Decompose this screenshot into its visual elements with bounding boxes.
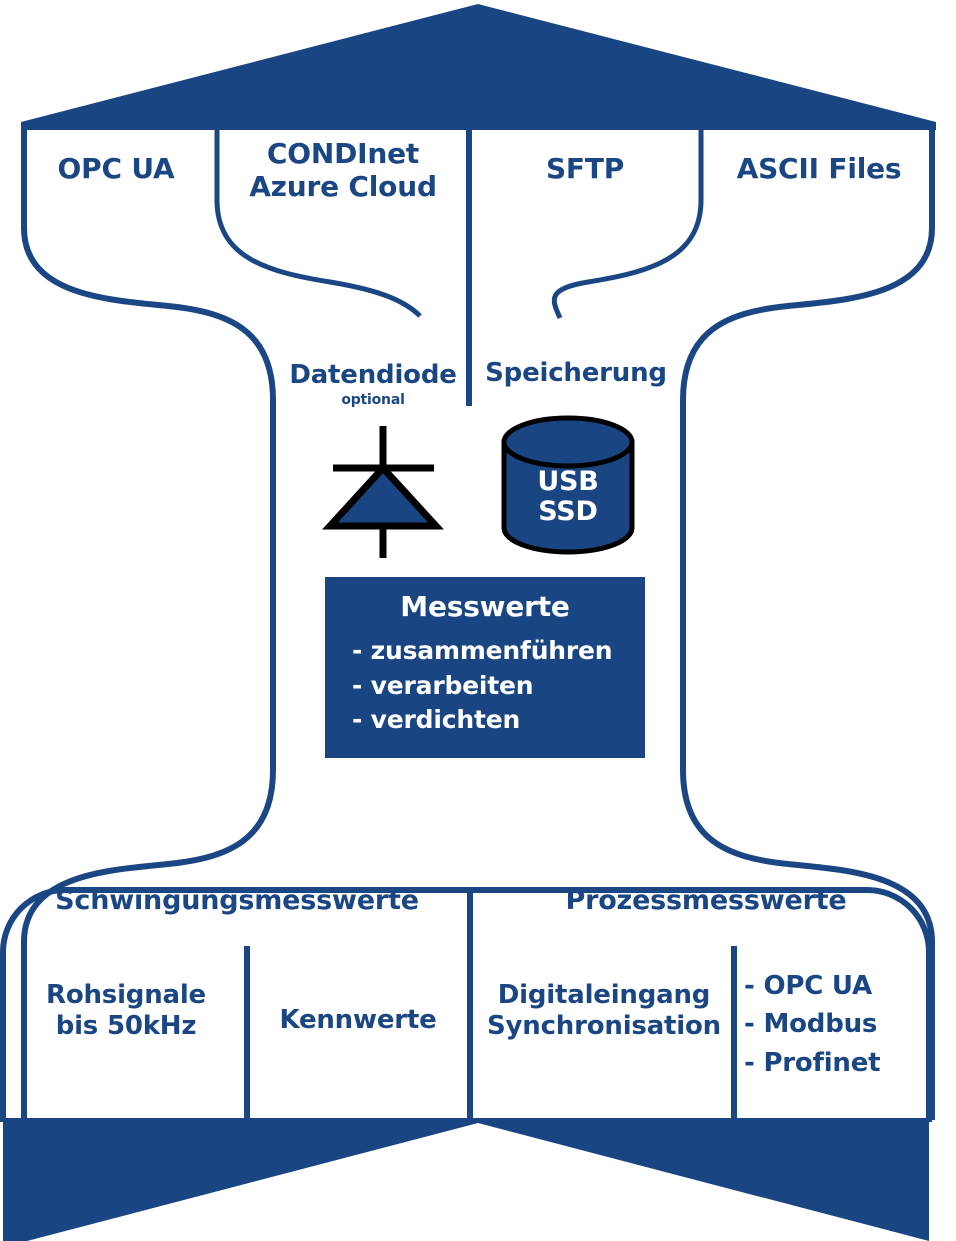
input-column-kennwerte: Kennwerte [256, 1005, 460, 1036]
output-label-condinet: CONDInet Azure Cloud [222, 137, 464, 203]
outline-left [24, 124, 273, 1120]
input-column-rohsignale: Rohsignale bis 50kHz [14, 980, 238, 1041]
output-label-opc-ua: OPC UA [22, 152, 210, 185]
messwerte-items: - zusammenführen - verarbeiten - verdich… [352, 634, 642, 738]
speicherung-title: Speicherung [478, 358, 674, 389]
input-column-digitaleingang: Digitaleingang Synchronisation [480, 980, 728, 1041]
input-group-label-prozessmesswerte: Prozessmesswerte [500, 885, 912, 917]
output-label-sftp: SFTP [474, 152, 696, 185]
input-group-label-schwingungsmesswerte: Schwingungsmesswerte [28, 885, 446, 917]
top-arrow-roof [21, 4, 936, 130]
diagram-canvas: OPC UA CONDInet Azure Cloud SFTP ASCII F… [0, 0, 956, 1241]
datendiode-title: Datendiode [278, 360, 468, 391]
bottom-arrow-band [3, 1118, 929, 1241]
diode-symbol-icon [330, 426, 436, 558]
input-column-protokolle: - OPC UA - Modbus - Profinet [744, 967, 924, 1082]
output-label-ascii-files: ASCII Files [706, 152, 932, 185]
messwerte-title: Messwerte [330, 590, 640, 623]
datendiode-subtitle: optional [278, 392, 468, 409]
storage-label: USB SSD [504, 467, 632, 527]
